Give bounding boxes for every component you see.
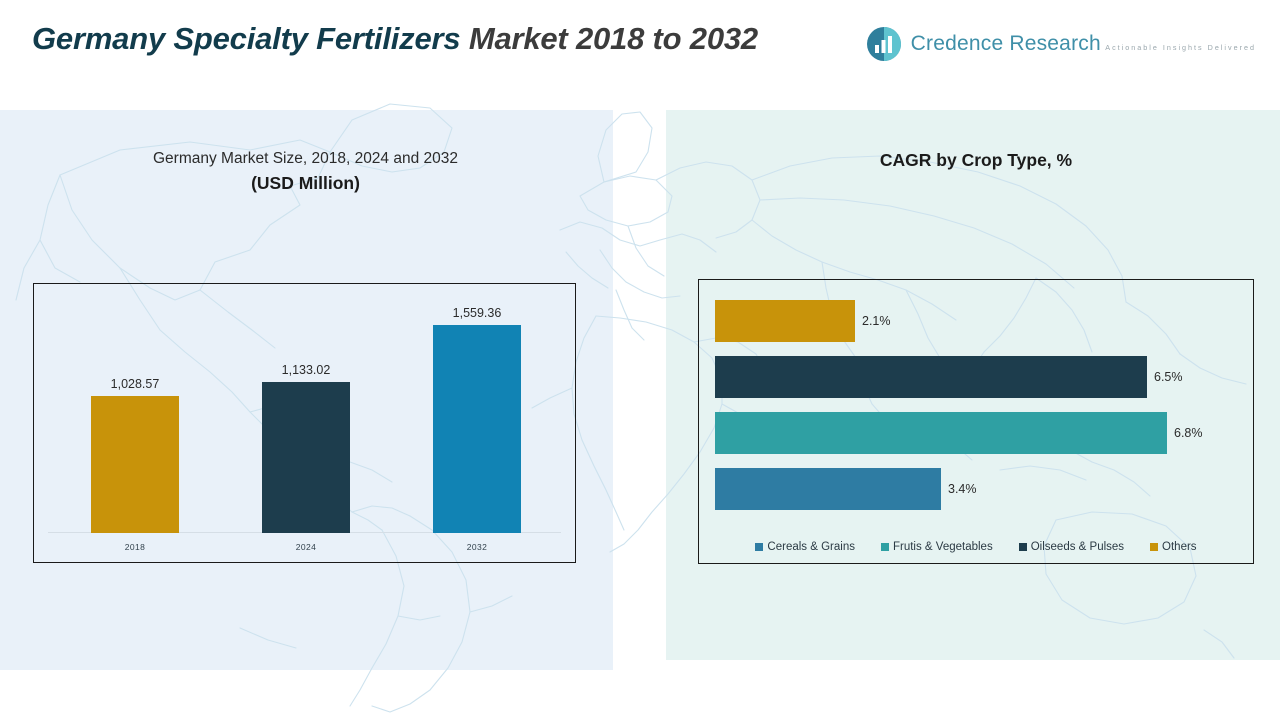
hbar-cereals-grains <box>715 468 941 510</box>
left-chart-heading-line1: Germany Market Size, 2018, 2024 and 2032 <box>33 148 578 170</box>
page-title: Germany Specialty Fertilizers Market 201… <box>32 18 992 59</box>
logo-name: Credence Research <box>911 32 1101 55</box>
bar-category-label: 2032 <box>413 533 541 552</box>
right-chart-heading: CAGR by Crop Type, % <box>698 150 1254 171</box>
page-title-accent: Germany Specialty Fertilizers <box>32 21 460 56</box>
hbar-oilseeds-pulses <box>715 356 1147 398</box>
logo-text: Credence Research Actionable Insights De… <box>911 33 1256 55</box>
hbar-row-cereals-grains: 3.4% <box>715 468 977 510</box>
legend-swatch-icon <box>1019 543 1027 551</box>
legend-label: Cereals & Grains <box>767 541 855 553</box>
bar-2032 <box>433 325 521 533</box>
circular-bar-chart-icon <box>866 26 902 62</box>
cagr-legend: Cereals & GrainsFrutis & VegetablesOilse… <box>699 541 1253 553</box>
cagr-by-crop-type-chart: 2.1%6.5%6.8%3.4% Cereals & GrainsFrutis … <box>698 279 1254 564</box>
bar-value-label: 1,133.02 <box>242 363 370 382</box>
bar-value-label: 1,028.57 <box>71 377 199 396</box>
hbar-value-label: 6.5% <box>1154 370 1183 384</box>
infographic-page: Germany Specialty Fertilizers Market 201… <box>0 0 1280 720</box>
legend-label: Others <box>1162 541 1197 553</box>
hbar-row-frutis-vegetables: 6.8% <box>715 412 1203 454</box>
bar-category-label: 2018 <box>71 533 199 552</box>
hbar-value-label: 2.1% <box>862 314 891 328</box>
legend-swatch-icon <box>881 543 889 551</box>
hbar-row-others: 2.1% <box>715 300 891 342</box>
bar-group-2018: 1,028.572018 <box>91 396 179 533</box>
legend-item-cereals-grains[interactable]: Cereals & Grains <box>755 541 855 553</box>
header: Germany Specialty Fertilizers Market 201… <box>0 0 1280 110</box>
bar-2018 <box>91 396 179 533</box>
hbar-others <box>715 300 855 342</box>
legend-item-others[interactable]: Others <box>1150 541 1197 553</box>
bar-group-2032: 1,559.362032 <box>433 325 521 533</box>
market-size-bar-chart: 1,028.5720181,133.0220241,559.362032 <box>33 283 576 563</box>
hbar-row-oilseeds-pulses: 6.5% <box>715 356 1183 398</box>
legend-swatch-icon <box>755 543 763 551</box>
left-chart-heading-line2: (USD Million) <box>33 170 578 196</box>
bar-2024 <box>262 382 350 533</box>
legend-item-frutis-vegetables[interactable]: Frutis & Vegetables <box>881 541 993 553</box>
market-size-plot-area: 1,028.5720181,133.0220241,559.362032 <box>34 284 575 562</box>
hbar-frutis-vegetables <box>715 412 1167 454</box>
logo-tagline: Actionable Insights Delivered <box>1105 43 1256 52</box>
credence-research-logo[interactable]: Credence Research Actionable Insights De… <box>866 26 1256 62</box>
left-chart-heading: Germany Market Size, 2018, 2024 and 2032… <box>33 148 578 197</box>
bar-group-2024: 1,133.022024 <box>262 382 350 533</box>
hbar-value-label: 3.4% <box>948 482 977 496</box>
page-title-rest: Market 2018 to 2032 <box>460 21 758 56</box>
legend-label: Frutis & Vegetables <box>893 541 993 553</box>
legend-label: Oilseeds & Pulses <box>1031 541 1124 553</box>
hbar-value-label: 6.8% <box>1174 426 1203 440</box>
legend-swatch-icon <box>1150 543 1158 551</box>
legend-item-oilseeds-pulses[interactable]: Oilseeds & Pulses <box>1019 541 1124 553</box>
bar-category-label: 2024 <box>242 533 370 552</box>
bar-value-label: 1,559.36 <box>413 306 541 325</box>
